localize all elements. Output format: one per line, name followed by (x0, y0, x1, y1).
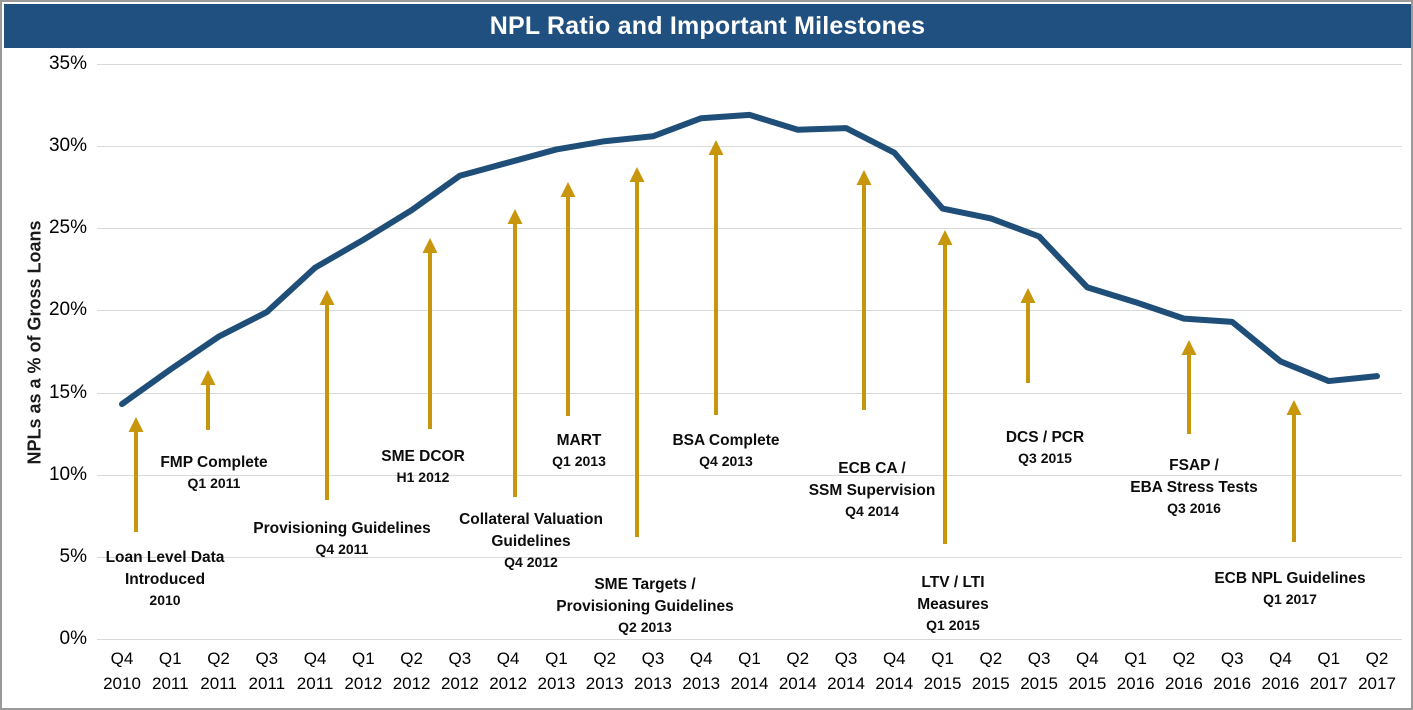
milestone-arrow-ecb-ca-ssm (857, 170, 872, 410)
milestone-label-date: Q4 2013 (672, 452, 779, 472)
y-axis-tick: 20% (17, 299, 87, 321)
milestone-label-text: DCS / PCR (1006, 427, 1084, 449)
milestone-label-mart: MARTQ1 2013 (552, 430, 606, 472)
milestone-label-collateral-valuation: Collateral ValuationGuidelinesQ4 2012 (459, 509, 603, 573)
milestone-label-text: EBA Stress Tests (1130, 477, 1258, 499)
milestone-arrow-mart (561, 182, 576, 416)
chart-title: NPL Ratio and Important Milestones (490, 12, 926, 41)
milestone-label-text: SSM Supervision (809, 480, 936, 502)
milestone-label-sme-dcor: SME DCORH1 2012 (381, 446, 465, 488)
y-axis-tick: 30% (17, 135, 87, 157)
x-axis-tick-labels: Q42010Q12011Q22011Q32011Q42011Q12012Q220… (97, 647, 1402, 705)
y-axis-tick-labels: 0%5%10%15%20%25%30%35% (2, 64, 97, 639)
milestone-label-fsap-eba: FSAP /EBA Stress TestsQ3 2016 (1130, 455, 1258, 519)
milestone-label-text: FMP Complete (160, 452, 267, 474)
milestone-label-text: BSA Complete (672, 430, 779, 452)
milestone-label-date: Q1 2013 (552, 452, 606, 472)
milestone-arrow-bsa-complete (709, 140, 724, 415)
gridline (97, 639, 1402, 640)
milestone-label-date: H1 2012 (381, 468, 465, 488)
milestone-label-sme-targets: SME Targets /Provisioning GuidelinesQ2 2… (556, 574, 733, 638)
milestone-label-text: Measures (917, 594, 989, 616)
milestone-label-date: Q2 2013 (556, 618, 733, 638)
milestone-label-text: ECB CA / (809, 458, 936, 480)
milestone-label-text: Collateral Valuation (459, 509, 603, 531)
milestone-label-bsa-complete: BSA CompleteQ4 2013 (672, 430, 779, 472)
milestone-arrow-fsap-eba (1182, 340, 1197, 434)
milestone-label-date: Q3 2016 (1130, 499, 1258, 519)
milestone-label-text: FSAP / (1130, 455, 1258, 477)
y-axis-tick: 10% (17, 464, 87, 486)
milestone-label-date: 2010 (106, 591, 225, 611)
milestone-label-date: Q4 2012 (459, 553, 603, 573)
milestone-label-date: Q1 2017 (1214, 590, 1365, 610)
milestone-arrow-dcs-pcr (1021, 288, 1036, 383)
milestone-label-text: Provisioning Guidelines (556, 596, 733, 618)
milestone-arrow-ecb-npl-guidelines (1287, 400, 1302, 542)
milestone-arrow-provisioning-guidelines (320, 290, 335, 500)
milestone-label-text: Provisioning Guidelines (253, 518, 430, 540)
milestone-arrow-ltv-lti (938, 230, 953, 544)
y-axis-tick: 35% (17, 53, 87, 75)
milestone-label-text: SME Targets / (556, 574, 733, 596)
x-axis-tick: Q22017 (1342, 647, 1412, 696)
milestone-label-ecb-npl-guidelines: ECB NPL GuidelinesQ1 2017 (1214, 568, 1365, 610)
milestone-label-date: Q1 2015 (917, 616, 989, 636)
milestone-label-text: Guidelines (459, 531, 603, 553)
milestone-label-ltv-lti: LTV / LTIMeasuresQ1 2015 (917, 572, 989, 636)
milestone-label-text: LTV / LTI (917, 572, 989, 594)
milestone-label-dcs-pcr: DCS / PCRQ3 2015 (1006, 427, 1084, 469)
y-axis-tick: 5% (17, 546, 87, 568)
milestone-arrow-fmp-complete (201, 370, 216, 430)
plot-area: Loan Level DataIntroduced2010FMP Complet… (97, 64, 1402, 639)
milestone-arrow-sme-dcor (423, 238, 438, 429)
milestone-label-date: Q1 2011 (160, 474, 267, 494)
milestone-label-provisioning-guidelines: Provisioning GuidelinesQ4 2011 (253, 518, 430, 560)
y-axis-tick: 0% (17, 628, 87, 650)
milestone-arrow-loan-level-data (129, 417, 144, 532)
milestone-label-text: Introduced (106, 569, 225, 591)
x-axis-tick-year: 2017 (1342, 672, 1412, 697)
milestone-label-text: Loan Level Data (106, 547, 225, 569)
milestone-label-text: ECB NPL Guidelines (1214, 568, 1365, 590)
milestone-label-loan-level-data: Loan Level DataIntroduced2010 (106, 547, 225, 611)
x-axis-tick-quarter: Q2 (1342, 647, 1412, 672)
y-axis-tick: 15% (17, 382, 87, 404)
chart-container: NPL Ratio and Important Milestones NPLs … (0, 0, 1413, 710)
chart-title-bar: NPL Ratio and Important Milestones (4, 4, 1411, 48)
y-axis-tick: 25% (17, 217, 87, 239)
milestone-label-fmp-complete: FMP CompleteQ1 2011 (160, 452, 267, 494)
milestone-label-date: Q4 2011 (253, 540, 430, 560)
milestone-label-ecb-ca-ssm: ECB CA /SSM SupervisionQ4 2014 (809, 458, 936, 522)
milestone-label-date: Q4 2014 (809, 502, 936, 522)
milestone-label-date: Q3 2015 (1006, 449, 1084, 469)
milestone-arrow-sme-targets (630, 167, 645, 537)
milestone-label-text: MART (552, 430, 606, 452)
milestone-label-text: SME DCOR (381, 446, 465, 468)
milestone-arrow-collateral-valuation (508, 209, 523, 497)
